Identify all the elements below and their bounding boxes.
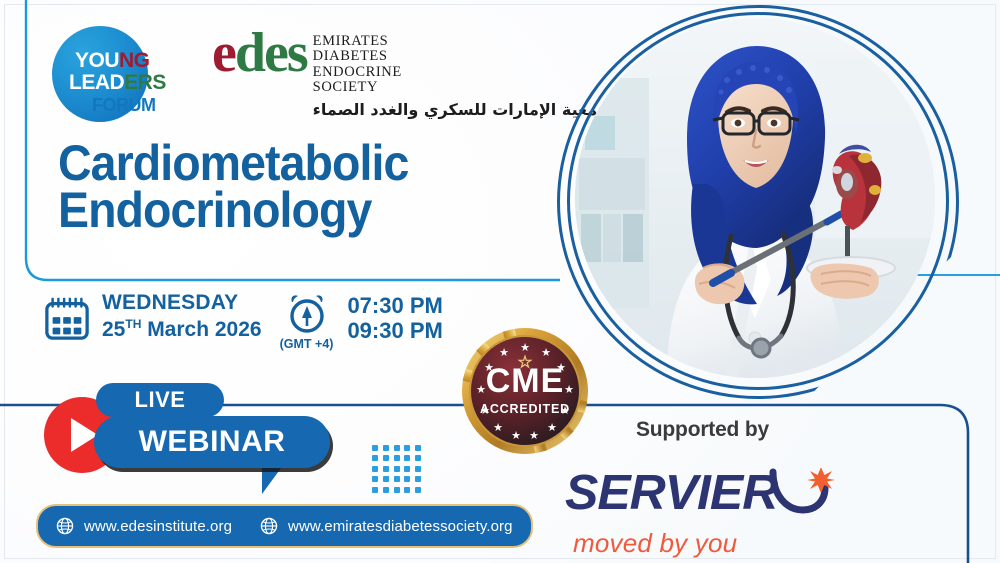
ylf-line-3: FORUM: [92, 96, 156, 114]
servier-swoosh-star-icon: [767, 468, 837, 524]
footer-links-bar: www.edesinstitute.org www.emiratesdiabet…: [36, 504, 533, 548]
edes-name-line-3: ENDOCRINE: [313, 65, 610, 80]
event-date-text: WEDNESDAY 25TH March 2026: [102, 292, 262, 340]
globe-icon: [56, 517, 74, 535]
live-webinar-badge: WEBINAR LIVE: [44, 383, 344, 488]
edes-logo: edes EMIRATES DIABETES ENDOCRINE SOCIETY…: [212, 30, 609, 119]
ylf-you: YOU: [75, 49, 119, 72]
event-date-number: 25: [102, 318, 125, 341]
speech-bubble-tail: [262, 464, 284, 494]
globe-icon: [260, 517, 278, 535]
title-line-2: Endocrinology: [58, 187, 495, 234]
event-datetime: WEDNESDAY 25TH March 2026 (GMT +4) 07:30…: [44, 292, 443, 351]
cme-main-text: CME: [486, 364, 565, 398]
servier-wordmark: SERVIER: [565, 469, 777, 518]
calendar-icon: [44, 296, 90, 342]
edes-wordmark: edes: [212, 30, 307, 77]
doctor-illustration: [575, 18, 935, 378]
event-times: 07:30 PM 09:30 PM: [347, 293, 442, 344]
event-time-start: 07:30 PM: [347, 293, 442, 318]
young-leaders-forum-logo: YOUNG LEADERS FORUM: [46, 24, 198, 128]
header-logos: YOUNG LEADERS FORUM edes EMIRATES DIABET…: [46, 24, 609, 128]
edes-name-line-4: SOCIETY: [313, 80, 610, 95]
event-time-end: 09:30 PM: [347, 318, 442, 343]
edes-name-line-1: EMIRATES: [313, 34, 610, 49]
page-title: Cardiometabolic Endocrinology: [58, 140, 495, 234]
event-timezone-block: (GMT +4): [280, 292, 334, 351]
live-pill: LIVE: [96, 383, 224, 417]
ylf-line-2: LEADERS: [69, 72, 166, 93]
cme-badge-text: CME ACCREDITED: [460, 325, 590, 455]
ylf-wordmark: YOUNG LEADERS FORUM: [46, 24, 198, 128]
servier-logo: SERVIER moved by you: [565, 462, 895, 559]
speaker-photo-container: [575, 18, 935, 378]
edes-arabic-name: جمعية الإمارات للسكري والغدد الصماء: [313, 100, 610, 119]
event-date-ordinal: TH: [125, 317, 141, 331]
alarm-clock-icon: [285, 294, 329, 334]
event-weekday: WEDNESDAY: [102, 292, 262, 313]
event-date-rest: March 2026: [141, 318, 261, 341]
ylf-line-1: YOUNG: [75, 50, 150, 71]
edes-fullname-block: EMIRATES DIABETES ENDOCRINE SOCIETY جمعي…: [313, 34, 610, 119]
webinar-poster: YOUNG LEADERS FORUM edes EMIRATES DIABET…: [0, 0, 1000, 563]
footer-link-emiratesdiabetessociety[interactable]: www.emiratesdiabetessociety.org: [288, 518, 513, 535]
webinar-pill: WEBINAR: [94, 416, 330, 468]
edes-name-line-2: DIABETES: [313, 49, 610, 64]
edes-letters-des: des: [235, 22, 307, 84]
cme-accredited-badge: ★ ★ ★ ★ ★ ★ ★ ★ ★ ★ ★ ★ ★ ★ CME: [460, 325, 590, 465]
edes-letter-e: e: [212, 22, 235, 84]
dot-grid-decoration: [372, 445, 422, 493]
event-date: 25TH March 2026: [102, 318, 262, 340]
speaker-photo: [575, 18, 935, 378]
supported-by-label: Supported by: [636, 418, 769, 442]
ylf-ers: ERS: [124, 71, 166, 94]
event-timezone: (GMT +4): [280, 337, 334, 351]
servier-tagline: moved by you: [573, 528, 895, 559]
cme-sub-text: ACCREDITED: [480, 402, 570, 416]
footer-link-edesinstitute[interactable]: www.edesinstitute.org: [84, 518, 232, 535]
ylf-ng: NG: [119, 49, 150, 72]
ylf-lead: LEAD: [69, 71, 124, 94]
